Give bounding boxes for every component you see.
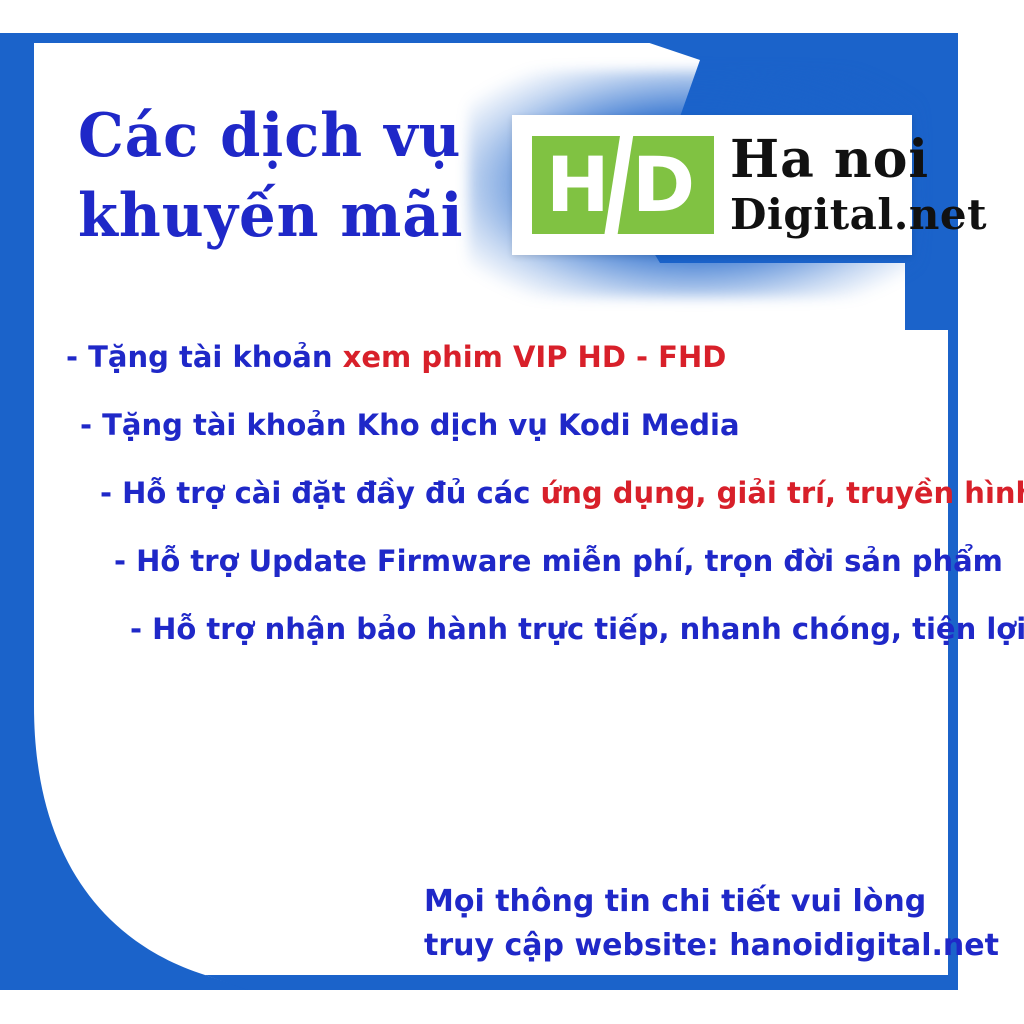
brand-logo: H D Ha noi Digital.net <box>512 115 912 255</box>
footer-line-1: Mọi thông tin chi tiết vui lòng <box>424 880 999 924</box>
hd-logo-letter-d: D <box>632 136 695 234</box>
list-item: - Hỗ trợ Update Firmware miễn phí, trọn … <box>0 542 935 580</box>
list-item: - Tặng tài khoản xem phim VIP HD - FHD <box>0 338 935 376</box>
hd-logo-icon: H D <box>532 136 714 234</box>
hd-logo-letter-h: H <box>546 136 610 234</box>
service-list: - Tặng tài khoản xem phim VIP HD - FHD -… <box>0 338 935 678</box>
footer-line-2: truy cập website: hanoidigital.net <box>424 924 999 968</box>
brand-wordmark: Ha noi Digital.net <box>730 134 987 236</box>
list-item-text-blue: - Tặng tài khoản <box>66 340 343 374</box>
page-title: Các dịch vụ khuyến mãi <box>78 96 481 256</box>
list-item: - Hỗ trợ cài đặt đầy đủ các ứng dụng, gi… <box>0 474 935 512</box>
list-item-text-blue: - Tặng tài khoản Kho dịch vụ Kodi Media <box>80 408 740 442</box>
list-item-text-red: ứng dụng, giải trí, truyền hình <box>541 476 1024 510</box>
list-item-text-blue: - Hỗ trợ Update Firmware miễn phí, trọn … <box>114 544 1003 578</box>
page-title-line-1: Các dịch vụ <box>78 96 481 176</box>
brand-name-line-2: Digital.net <box>730 194 987 236</box>
list-item-text-red: xem phim VIP HD - FHD <box>343 340 727 374</box>
list-item: - Hỗ trợ nhận bảo hành trực tiếp, nhanh … <box>0 610 935 648</box>
footer-contact: Mọi thông tin chi tiết vui lòng truy cập… <box>424 880 999 968</box>
list-item-text-blue: - Hỗ trợ nhận bảo hành trực tiếp, nhanh … <box>130 612 1024 646</box>
list-item: - Tặng tài khoản Kho dịch vụ Kodi Media <box>0 406 935 444</box>
promo-poster: Các dịch vụ khuyến mãi H D Ha noi Digita… <box>0 0 1024 1024</box>
brand-name-line-1: Ha noi <box>730 134 987 186</box>
page-title-line-2: khuyến mãi <box>78 176 481 256</box>
list-item-text-blue: - Hỗ trợ cài đặt đầy đủ các <box>100 476 541 510</box>
